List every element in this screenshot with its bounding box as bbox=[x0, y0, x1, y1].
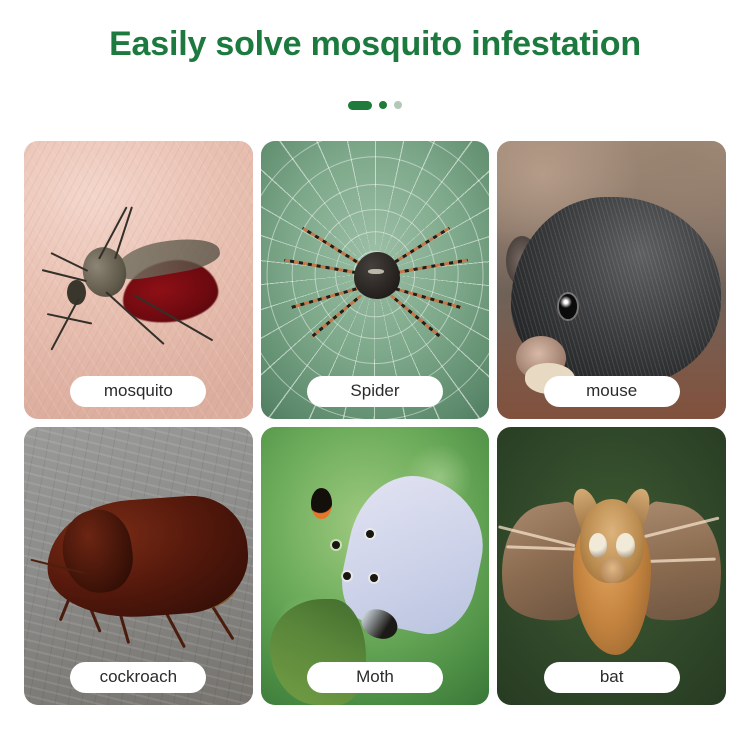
bat-eye-left bbox=[589, 533, 607, 558]
gallery-tile-bat[interactable]: bat bbox=[497, 427, 726, 705]
moth-spot-3 bbox=[343, 572, 351, 580]
gallery-tile-cockroach[interactable]: cockroach bbox=[24, 427, 253, 705]
product-feature-panel: Easily solve mosquito infestation bbox=[0, 0, 750, 750]
bat-wing-bone-l1 bbox=[497, 525, 574, 547]
pagination-dot-2[interactable] bbox=[379, 101, 387, 109]
pest-gallery-grid: mosquito bbox=[24, 141, 726, 705]
gallery-tile-mosquito[interactable]: mosquito bbox=[24, 141, 253, 419]
bat-eye-right bbox=[616, 533, 634, 558]
page-title: Easily solve mosquito infestation bbox=[0, 22, 750, 66]
tile-label: cockroach bbox=[70, 662, 206, 693]
spider-body bbox=[354, 252, 400, 299]
carousel-pagination[interactable] bbox=[0, 99, 750, 111]
bat-wing-bone-r1 bbox=[644, 516, 719, 537]
tile-label: mouse bbox=[544, 376, 680, 407]
gallery-tile-moth[interactable]: Moth bbox=[261, 427, 490, 705]
bat-muzzle bbox=[600, 558, 625, 583]
pagination-dot-1[interactable] bbox=[348, 101, 372, 110]
tile-label: mosquito bbox=[70, 376, 206, 407]
moth-spot-2 bbox=[332, 541, 340, 549]
gallery-tile-spider[interactable]: Spider bbox=[261, 141, 490, 419]
tile-label: Spider bbox=[307, 376, 443, 407]
moth-eyespot bbox=[311, 488, 332, 519]
pagination-dot-3[interactable] bbox=[394, 101, 402, 109]
tile-label: bat bbox=[544, 662, 680, 693]
gallery-tile-mouse[interactable]: mouse bbox=[497, 141, 726, 419]
tile-label: Moth bbox=[307, 662, 443, 693]
moth-spot-1 bbox=[366, 530, 374, 538]
